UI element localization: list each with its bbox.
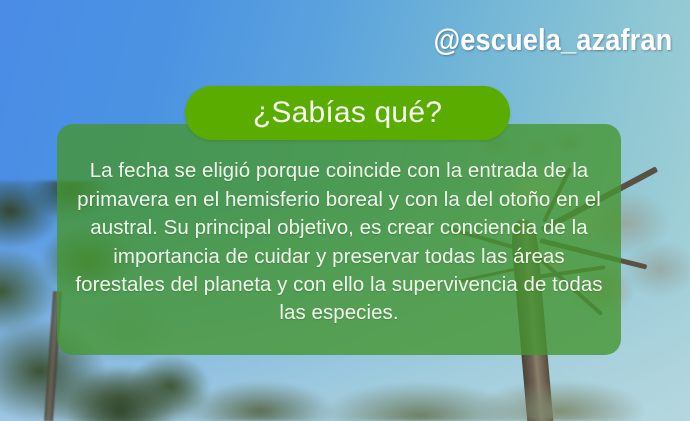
body-panel: La fecha se eligió porque coincide con l… bbox=[57, 124, 621, 355]
title-pill: ¿Sabías qué? bbox=[185, 86, 510, 140]
title-text: ¿Sabías qué? bbox=[253, 96, 442, 130]
social-post-canvas: @escuela_azafran La fecha se eligió porq… bbox=[0, 0, 690, 421]
body-text: La fecha se eligió porque coincide con l… bbox=[73, 157, 605, 327]
account-handle: @escuela_azafran bbox=[433, 22, 672, 58]
